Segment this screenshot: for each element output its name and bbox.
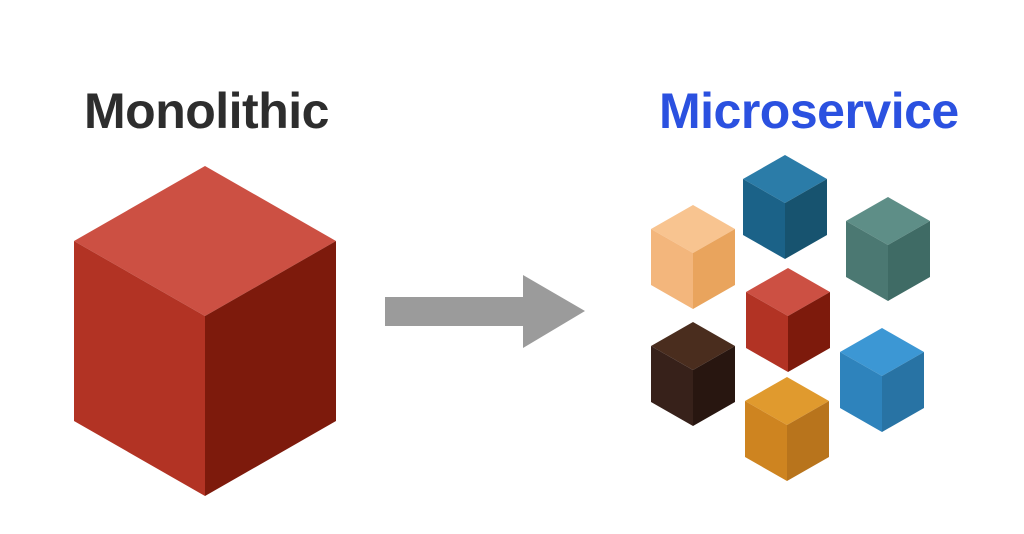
microservice-cube-dark-blue (743, 155, 827, 259)
microservice-cube-brown (651, 322, 735, 426)
diagram-canvas: Monolithic Microservice (0, 0, 1024, 534)
right-arrow-icon (385, 275, 585, 348)
shapes-layer (0, 0, 1024, 534)
transition-arrow-group (385, 275, 585, 348)
microservice-cube-orange (745, 377, 829, 481)
microservice-cube-red (746, 268, 830, 372)
monolithic-cube-group (74, 166, 336, 496)
microservice-cube-peach (651, 205, 735, 309)
microservice-cube-teal (846, 197, 930, 301)
monolithic-cube (74, 166, 336, 496)
microservice-cubes-group (651, 155, 930, 481)
microservice-cube-light-blue (840, 328, 924, 432)
